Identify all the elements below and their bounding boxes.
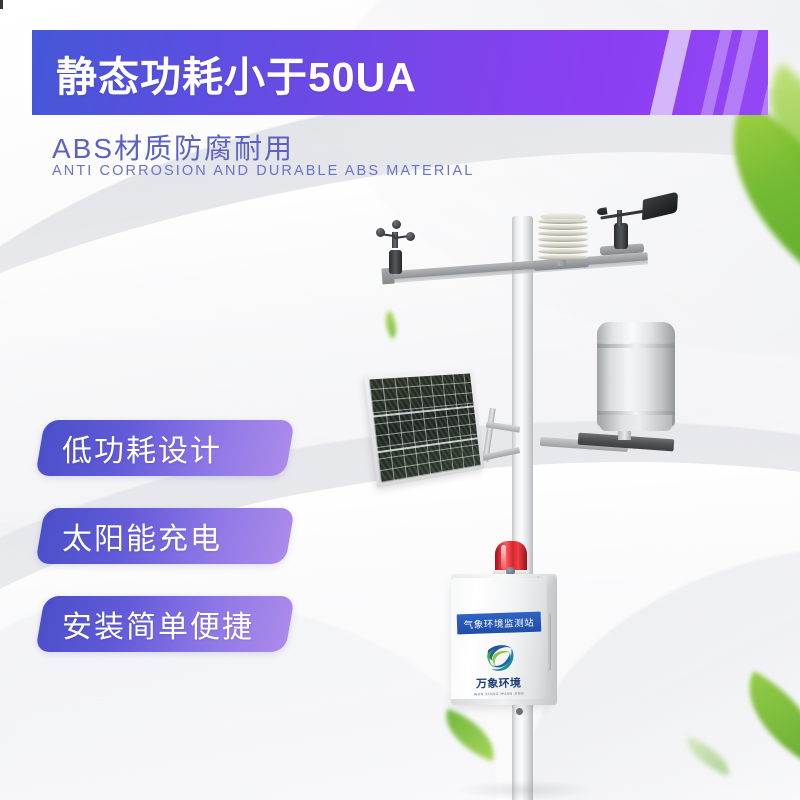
mast-hole-lower (516, 708, 523, 715)
louver-plate (538, 219, 588, 224)
wind-vane-fin (642, 192, 678, 221)
louver-plate (538, 225, 588, 230)
promo-banner-image: 气象环境监测站 (0, 0, 800, 800)
louver-plate (538, 255, 588, 260)
globe-logo-icon (483, 641, 516, 674)
feature-pill-2: 太阳能充电 (35, 508, 295, 564)
rain-gauge-ring-upper (597, 344, 675, 348)
anemometer-cup-2 (406, 232, 415, 241)
subtitle-english: ANTI CORROSION AND DURABLE ABS MATERIAL (52, 163, 474, 179)
feature-pill-3: 安装简单便捷 (35, 596, 295, 652)
rain-gauge-ring-lower (597, 411, 675, 415)
solar-panel-cells (369, 373, 481, 482)
subtitle-chinese: ABS材质防腐耐用 (52, 127, 294, 167)
alarm-beacon-highlight (501, 545, 506, 569)
louver-plate (538, 249, 588, 254)
product-name-label: 气象环境监测站 (457, 612, 542, 635)
weather-station-product: 气象环境监测站 (0, 0, 800, 800)
wind-vane-nose (597, 207, 608, 215)
anemometer-body (389, 250, 402, 274)
brand-name-cn: 万象环境 (476, 675, 521, 692)
rain-gauge-top (597, 322, 675, 342)
radiation-shield (538, 216, 588, 262)
feature-pill-3-label: 安装简单便捷 (40, 596, 290, 652)
controller-box-bottom (451, 699, 557, 705)
anemometer-cup-3 (392, 220, 401, 229)
anemometer-arm-3 (0, 0, 3, 9)
wind-vane-body (614, 223, 628, 249)
ground-shadow (455, 780, 595, 800)
banner-stripe-1 (642, 30, 699, 115)
header-banner: 静态功耗小于50UA (32, 30, 768, 115)
louver-plate (538, 237, 588, 242)
anemometer-cup-1 (376, 228, 385, 237)
louver-plate (538, 231, 588, 236)
brand-logo: 万象环境 WAN XIANG HUAN JING (467, 641, 531, 697)
feature-pill-1: 低功耗设计 (35, 420, 295, 476)
rain-gauge-foot (600, 415, 672, 431)
feature-pill-2-label: 太阳能充电 (40, 508, 290, 564)
product-name-label-text: 气象环境监测站 (463, 615, 534, 631)
banner-title: 静态功耗小于50UA (56, 43, 417, 103)
feature-pill-1-label: 低功耗设计 (40, 420, 290, 476)
solar-panel (364, 370, 484, 488)
brand-name-pinyin: WAN XIANG HUAN JING (474, 692, 524, 697)
louver-plate (538, 243, 588, 248)
